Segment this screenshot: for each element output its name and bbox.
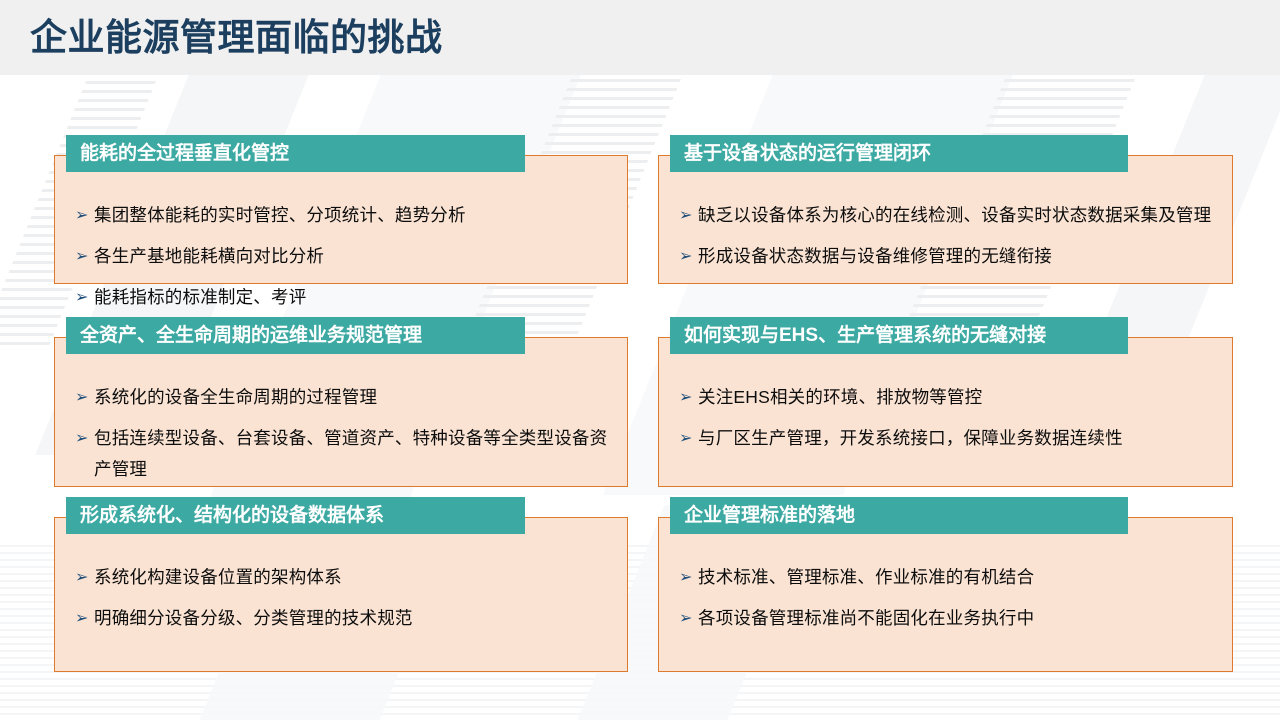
card-header-3: 全资产、全生命周期的运维业务规范管理 xyxy=(66,317,525,354)
arrow-bullet-icon: ➢ xyxy=(679,200,698,231)
list-item-text: 缺乏以设备体系为核心的在线检测、设备实时状态数据采集及管理 xyxy=(698,200,1218,231)
list-item: ➢ 能耗指标的标准制定、考评 xyxy=(75,282,613,313)
arrow-bullet-icon: ➢ xyxy=(75,423,94,454)
arrow-bullet-icon: ➢ xyxy=(679,562,698,593)
bullet-list: ➢ 技术标准、管理标准、作业标准的有机结合 ➢ 各项设备管理标准尚不能固化在业务… xyxy=(679,562,1218,644)
card-body: ➢ 缺乏以设备体系为核心的在线检测、设备实时状态数据采集及管理 ➢ 形成设备状态… xyxy=(658,155,1233,284)
card-header-5: 形成系统化、结构化的设备数据体系 xyxy=(66,497,525,534)
list-item: ➢ 与厂区生产管理，开发系统接口，保障业务数据连续性 xyxy=(679,423,1218,454)
list-item-text: 集团整体能耗的实时管控、分项统计、趋势分析 xyxy=(94,200,613,231)
card-header-2: 基于设备状态的运行管理闭环 xyxy=(670,135,1128,172)
arrow-bullet-icon: ➢ xyxy=(75,562,94,593)
bullet-list: ➢ 集团整体能耗的实时管控、分项统计、趋势分析 ➢ 各生产基地能耗横向对比分析 … xyxy=(75,200,613,323)
list-item-text: 各项设备管理标准尚不能固化在业务执行中 xyxy=(698,603,1218,634)
list-item-text: 关注EHS相关的环境、排放物等管控 xyxy=(698,382,1218,413)
bullet-list: ➢ 系统化的设备全生命周期的过程管理 ➢ 包括连续型设备、台套设备、管道资产、特… xyxy=(75,382,613,495)
arrow-bullet-icon: ➢ xyxy=(679,603,698,634)
list-item-text: 能耗指标的标准制定、考评 xyxy=(94,282,613,313)
list-item: ➢ 各项设备管理标准尚不能固化在业务执行中 xyxy=(679,603,1218,634)
list-item-text: 包括连续型设备、台套设备、管道资产、特种设备等全类型设备资产管理 xyxy=(94,423,613,485)
list-item-text: 明确细分设备分级、分类管理的技术规范 xyxy=(94,603,613,634)
card-body: ➢ 集团整体能耗的实时管控、分项统计、趋势分析 ➢ 各生产基地能耗横向对比分析 … xyxy=(54,155,628,284)
page-title: 企业能源管理面临的挑战 xyxy=(30,10,443,66)
list-item-text: 系统化的设备全生命周期的过程管理 xyxy=(94,382,613,413)
arrow-bullet-icon: ➢ xyxy=(75,603,94,634)
list-item-text: 技术标准、管理标准、作业标准的有机结合 xyxy=(698,562,1218,593)
card-header-1: 能耗的全过程垂直化管控 xyxy=(66,135,525,172)
bullet-list: ➢ 系统化构建设备位置的架构体系 ➢ 明确细分设备分级、分类管理的技术规范 xyxy=(75,562,613,644)
arrow-bullet-icon: ➢ xyxy=(75,382,94,413)
list-item: ➢ 形成设备状态数据与设备维修管理的无缝衔接 xyxy=(679,241,1218,272)
arrow-bullet-icon: ➢ xyxy=(679,423,698,454)
list-item: ➢ 关注EHS相关的环境、排放物等管控 xyxy=(679,382,1218,413)
card-body: ➢ 系统化构建设备位置的架构体系 ➢ 明确细分设备分级、分类管理的技术规范 xyxy=(54,517,628,672)
card-body: ➢ 技术标准、管理标准、作业标准的有机结合 ➢ 各项设备管理标准尚不能固化在业务… xyxy=(658,517,1233,672)
list-item: ➢ 各生产基地能耗横向对比分析 xyxy=(75,241,613,272)
list-item-text: 形成设备状态数据与设备维修管理的无缝衔接 xyxy=(698,241,1218,272)
list-item: ➢ 缺乏以设备体系为核心的在线检测、设备实时状态数据采集及管理 xyxy=(679,200,1218,231)
card-header-4: 如何实现与EHS、生产管理系统的无缝对接 xyxy=(670,317,1128,354)
arrow-bullet-icon: ➢ xyxy=(75,241,94,272)
list-item: ➢ 包括连续型设备、台套设备、管道资产、特种设备等全类型设备资产管理 xyxy=(75,423,613,485)
bullet-list: ➢ 缺乏以设备体系为核心的在线检测、设备实时状态数据采集及管理 ➢ 形成设备状态… xyxy=(679,200,1218,282)
list-item: ➢ 系统化构建设备位置的架构体系 xyxy=(75,562,613,593)
arrow-bullet-icon: ➢ xyxy=(679,241,698,272)
arrow-bullet-icon: ➢ xyxy=(75,200,94,231)
card-body: ➢ 关注EHS相关的环境、排放物等管控 ➢ 与厂区生产管理，开发系统接口，保障业… xyxy=(658,337,1233,487)
list-item: ➢ 集团整体能耗的实时管控、分项统计、趋势分析 xyxy=(75,200,613,231)
arrow-bullet-icon: ➢ xyxy=(679,382,698,413)
arrow-bullet-icon: ➢ xyxy=(75,282,94,313)
slide-canvas: 企业能源管理面临的挑战 ➢ 集团整体能耗的实时管控、分项统计、趋势分析 ➢ 各生… xyxy=(0,0,1280,720)
list-item: ➢ 技术标准、管理标准、作业标准的有机结合 xyxy=(679,562,1218,593)
bullet-list: ➢ 关注EHS相关的环境、排放物等管控 ➢ 与厂区生产管理，开发系统接口，保障业… xyxy=(679,382,1218,464)
card-header-6: 企业管理标准的落地 xyxy=(670,497,1128,534)
list-item-text: 各生产基地能耗横向对比分析 xyxy=(94,241,613,272)
list-item: ➢ 明确细分设备分级、分类管理的技术规范 xyxy=(75,603,613,634)
list-item-text: 与厂区生产管理，开发系统接口，保障业务数据连续性 xyxy=(698,423,1218,454)
list-item: ➢ 系统化的设备全生命周期的过程管理 xyxy=(75,382,613,413)
card-body: ➢ 系统化的设备全生命周期的过程管理 ➢ 包括连续型设备、台套设备、管道资产、特… xyxy=(54,337,628,487)
list-item-text: 系统化构建设备位置的架构体系 xyxy=(94,562,613,593)
